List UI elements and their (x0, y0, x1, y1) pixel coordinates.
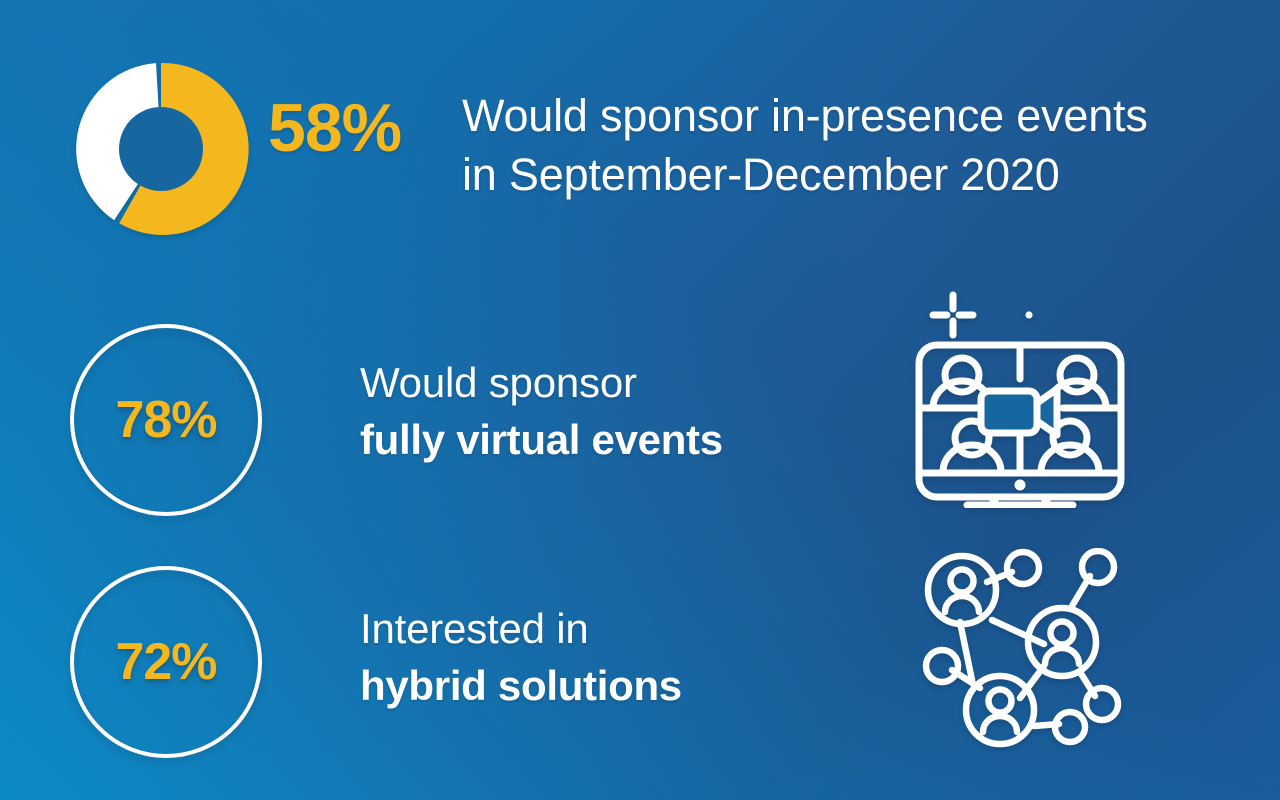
stat-line-2: fully virtual events (360, 411, 880, 468)
stat-line-1: Interested in (360, 600, 880, 657)
stat-description-fully-virtual-events: Would sponsor fully virtual events (360, 354, 880, 468)
stat-description-hybrid-solutions: Interested in hybrid solutions (360, 600, 880, 714)
stat-line-2: in September-December 2020 (462, 145, 1222, 204)
infographic-stage: 58% Would sponsor in-presence events in … (0, 0, 1280, 800)
donut-hole (119, 107, 203, 191)
stat-row-in-presence-events: 58% Would sponsor in-presence events in … (0, 0, 1280, 260)
stat-line-2: hybrid solutions (360, 657, 880, 714)
network-people-icon-svg (912, 548, 1130, 748)
percent-label-78: 78% (115, 390, 216, 450)
stat-line-1: Would sponsor (360, 354, 880, 411)
percent-label-72: 72% (115, 632, 216, 692)
network-people-icon (912, 548, 1130, 748)
stat-description-in-presence-events: Would sponsor in-presence events in Sept… (462, 86, 1222, 205)
donut-chart-svg (70, 58, 252, 240)
video-conference-icon (905, 283, 1135, 508)
percent-ring-72: 72% (70, 566, 262, 758)
video-conference-icon-svg (905, 283, 1135, 508)
percent-label-58: 58% (268, 94, 401, 162)
stat-line-1: Would sponsor in-presence events (462, 86, 1222, 145)
percent-ring-78: 78% (70, 324, 262, 516)
donut-chart-58 (70, 58, 252, 240)
